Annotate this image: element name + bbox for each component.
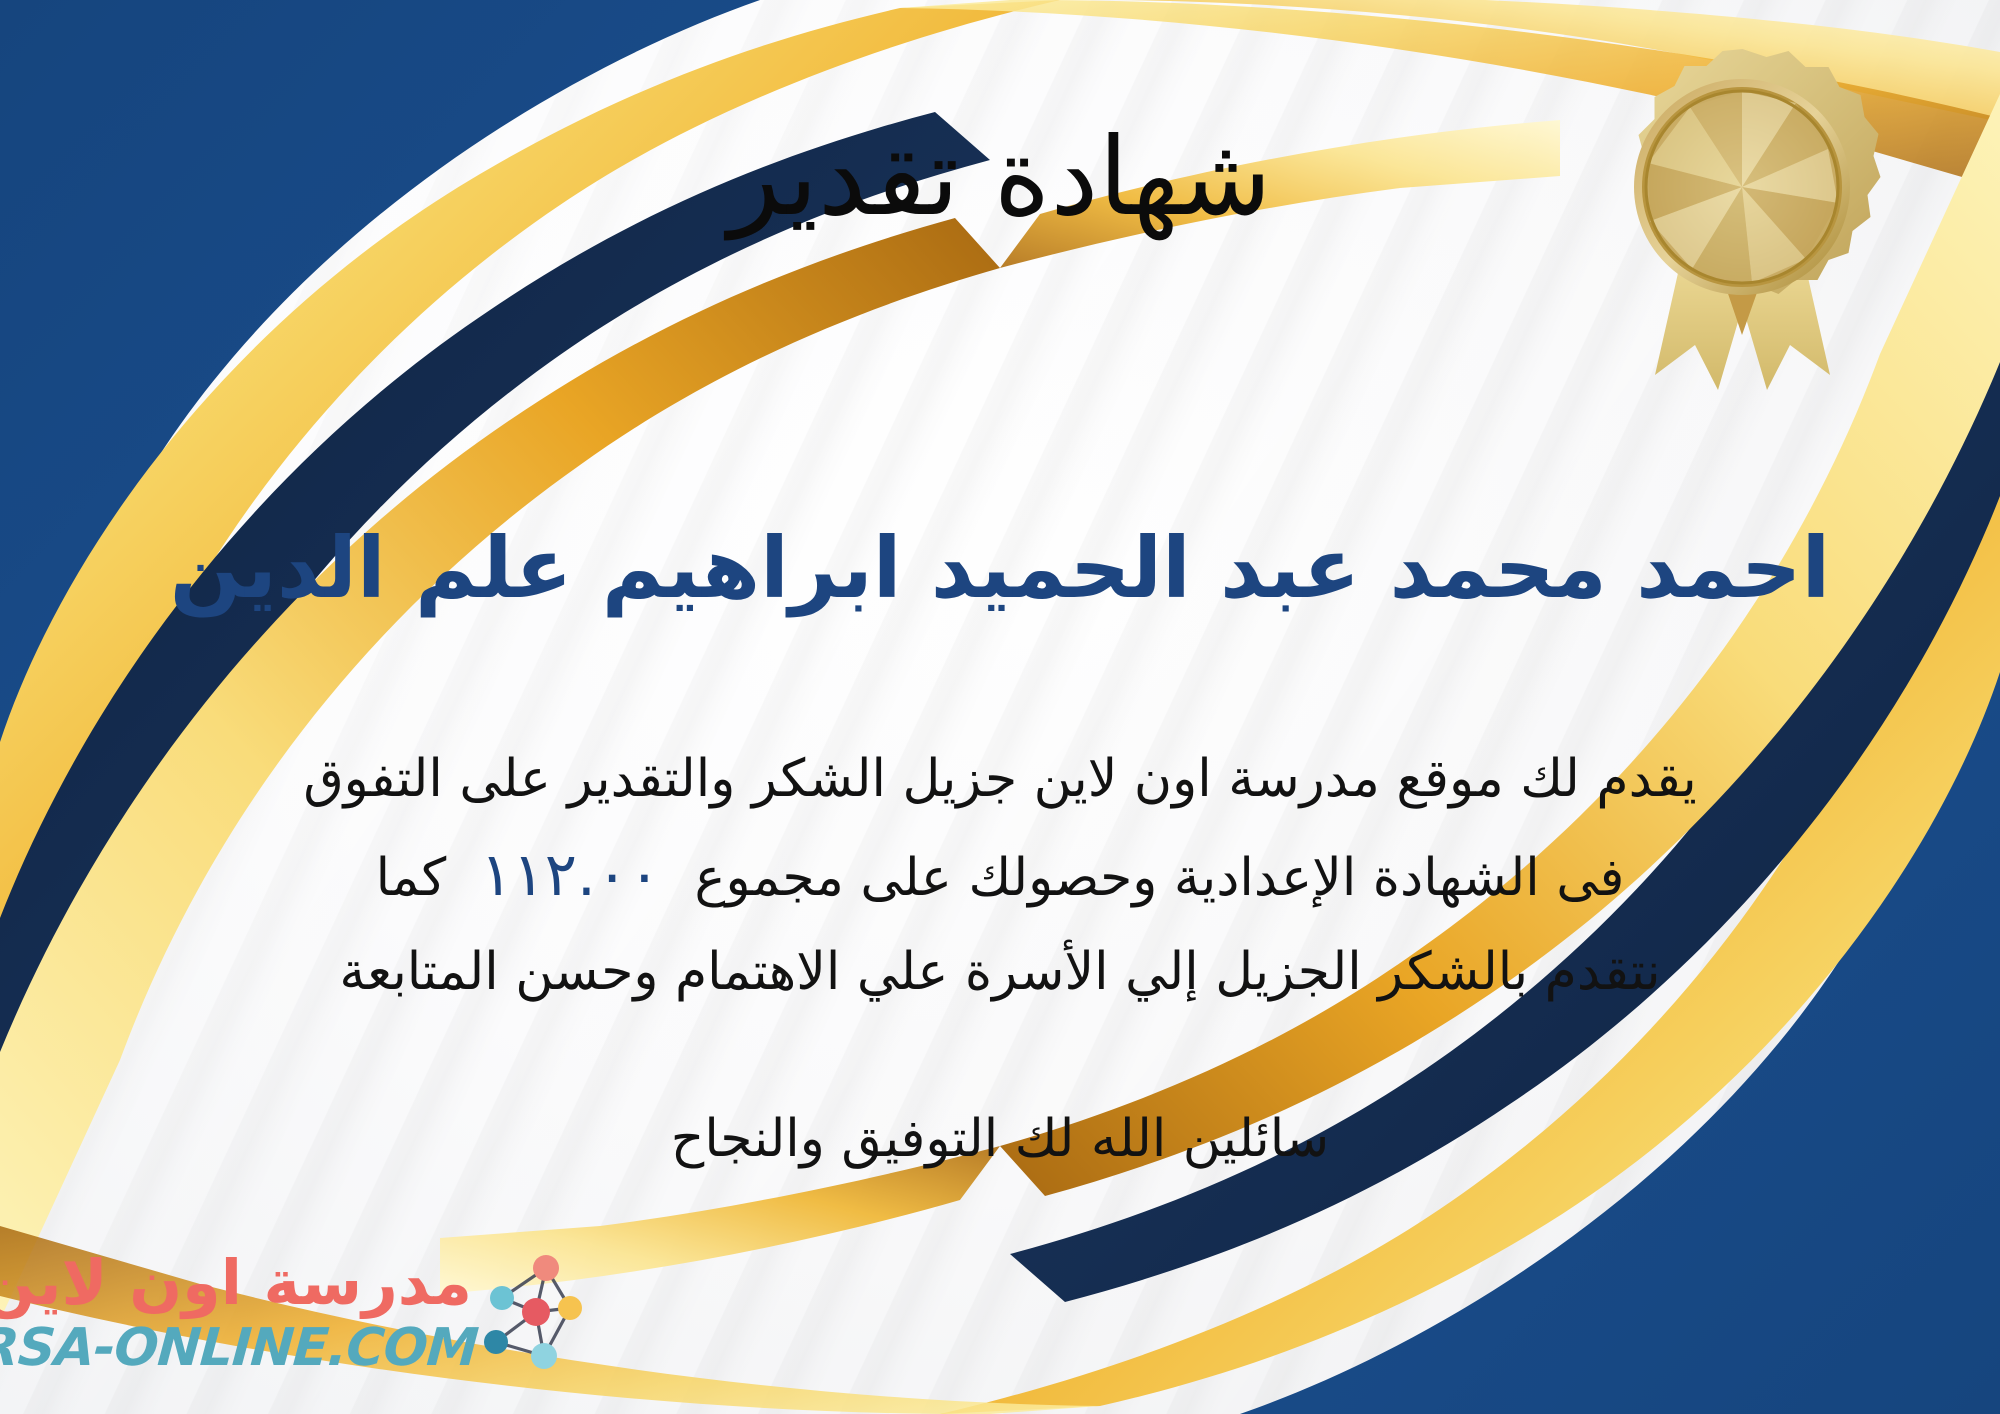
- body-line-2-prefix: فى الشهادة الإعدادية وحصولك على مجموع: [694, 848, 1624, 908]
- logo-url: MADRSA-ONLINE.COM: [0, 1322, 480, 1374]
- site-logo[interactable]: مدرسة اون لاين MADRSA-ONLINE.COM: [22, 1246, 582, 1396]
- logo-arabic-name: مدرسة اون لاين: [0, 1252, 472, 1314]
- page-title: شهادة تقدير: [0, 118, 2000, 239]
- body-line-3: نتقدم بالشكر الجزيل إلي الأسرة علي الاهت…: [70, 928, 1930, 1017]
- certificate-page: شهادة تقدير احمد محمد عبد الحميد ابراهيم…: [0, 0, 2000, 1414]
- network-nodes-icon: [474, 1246, 582, 1386]
- closing-line: سائلين الله لك التوفيق والنجاح: [70, 1100, 1930, 1178]
- body-line-1: يقدم لك موقع مدرسة اون لاين جزيل الشكر و…: [70, 735, 1930, 824]
- body-line-2: فى الشهادة الإعدادية وحصولك على مجموع١١٢…: [70, 824, 1930, 927]
- student-name: احمد محمد عبد الحميد ابراهيم علم الدين: [60, 520, 1940, 617]
- body-line-2-suffix: كما: [376, 848, 447, 908]
- certificate-body: يقدم لك موقع مدرسة اون لاين جزيل الشكر و…: [70, 735, 1930, 1017]
- grade-value: ١١٢.٠٠: [446, 824, 694, 927]
